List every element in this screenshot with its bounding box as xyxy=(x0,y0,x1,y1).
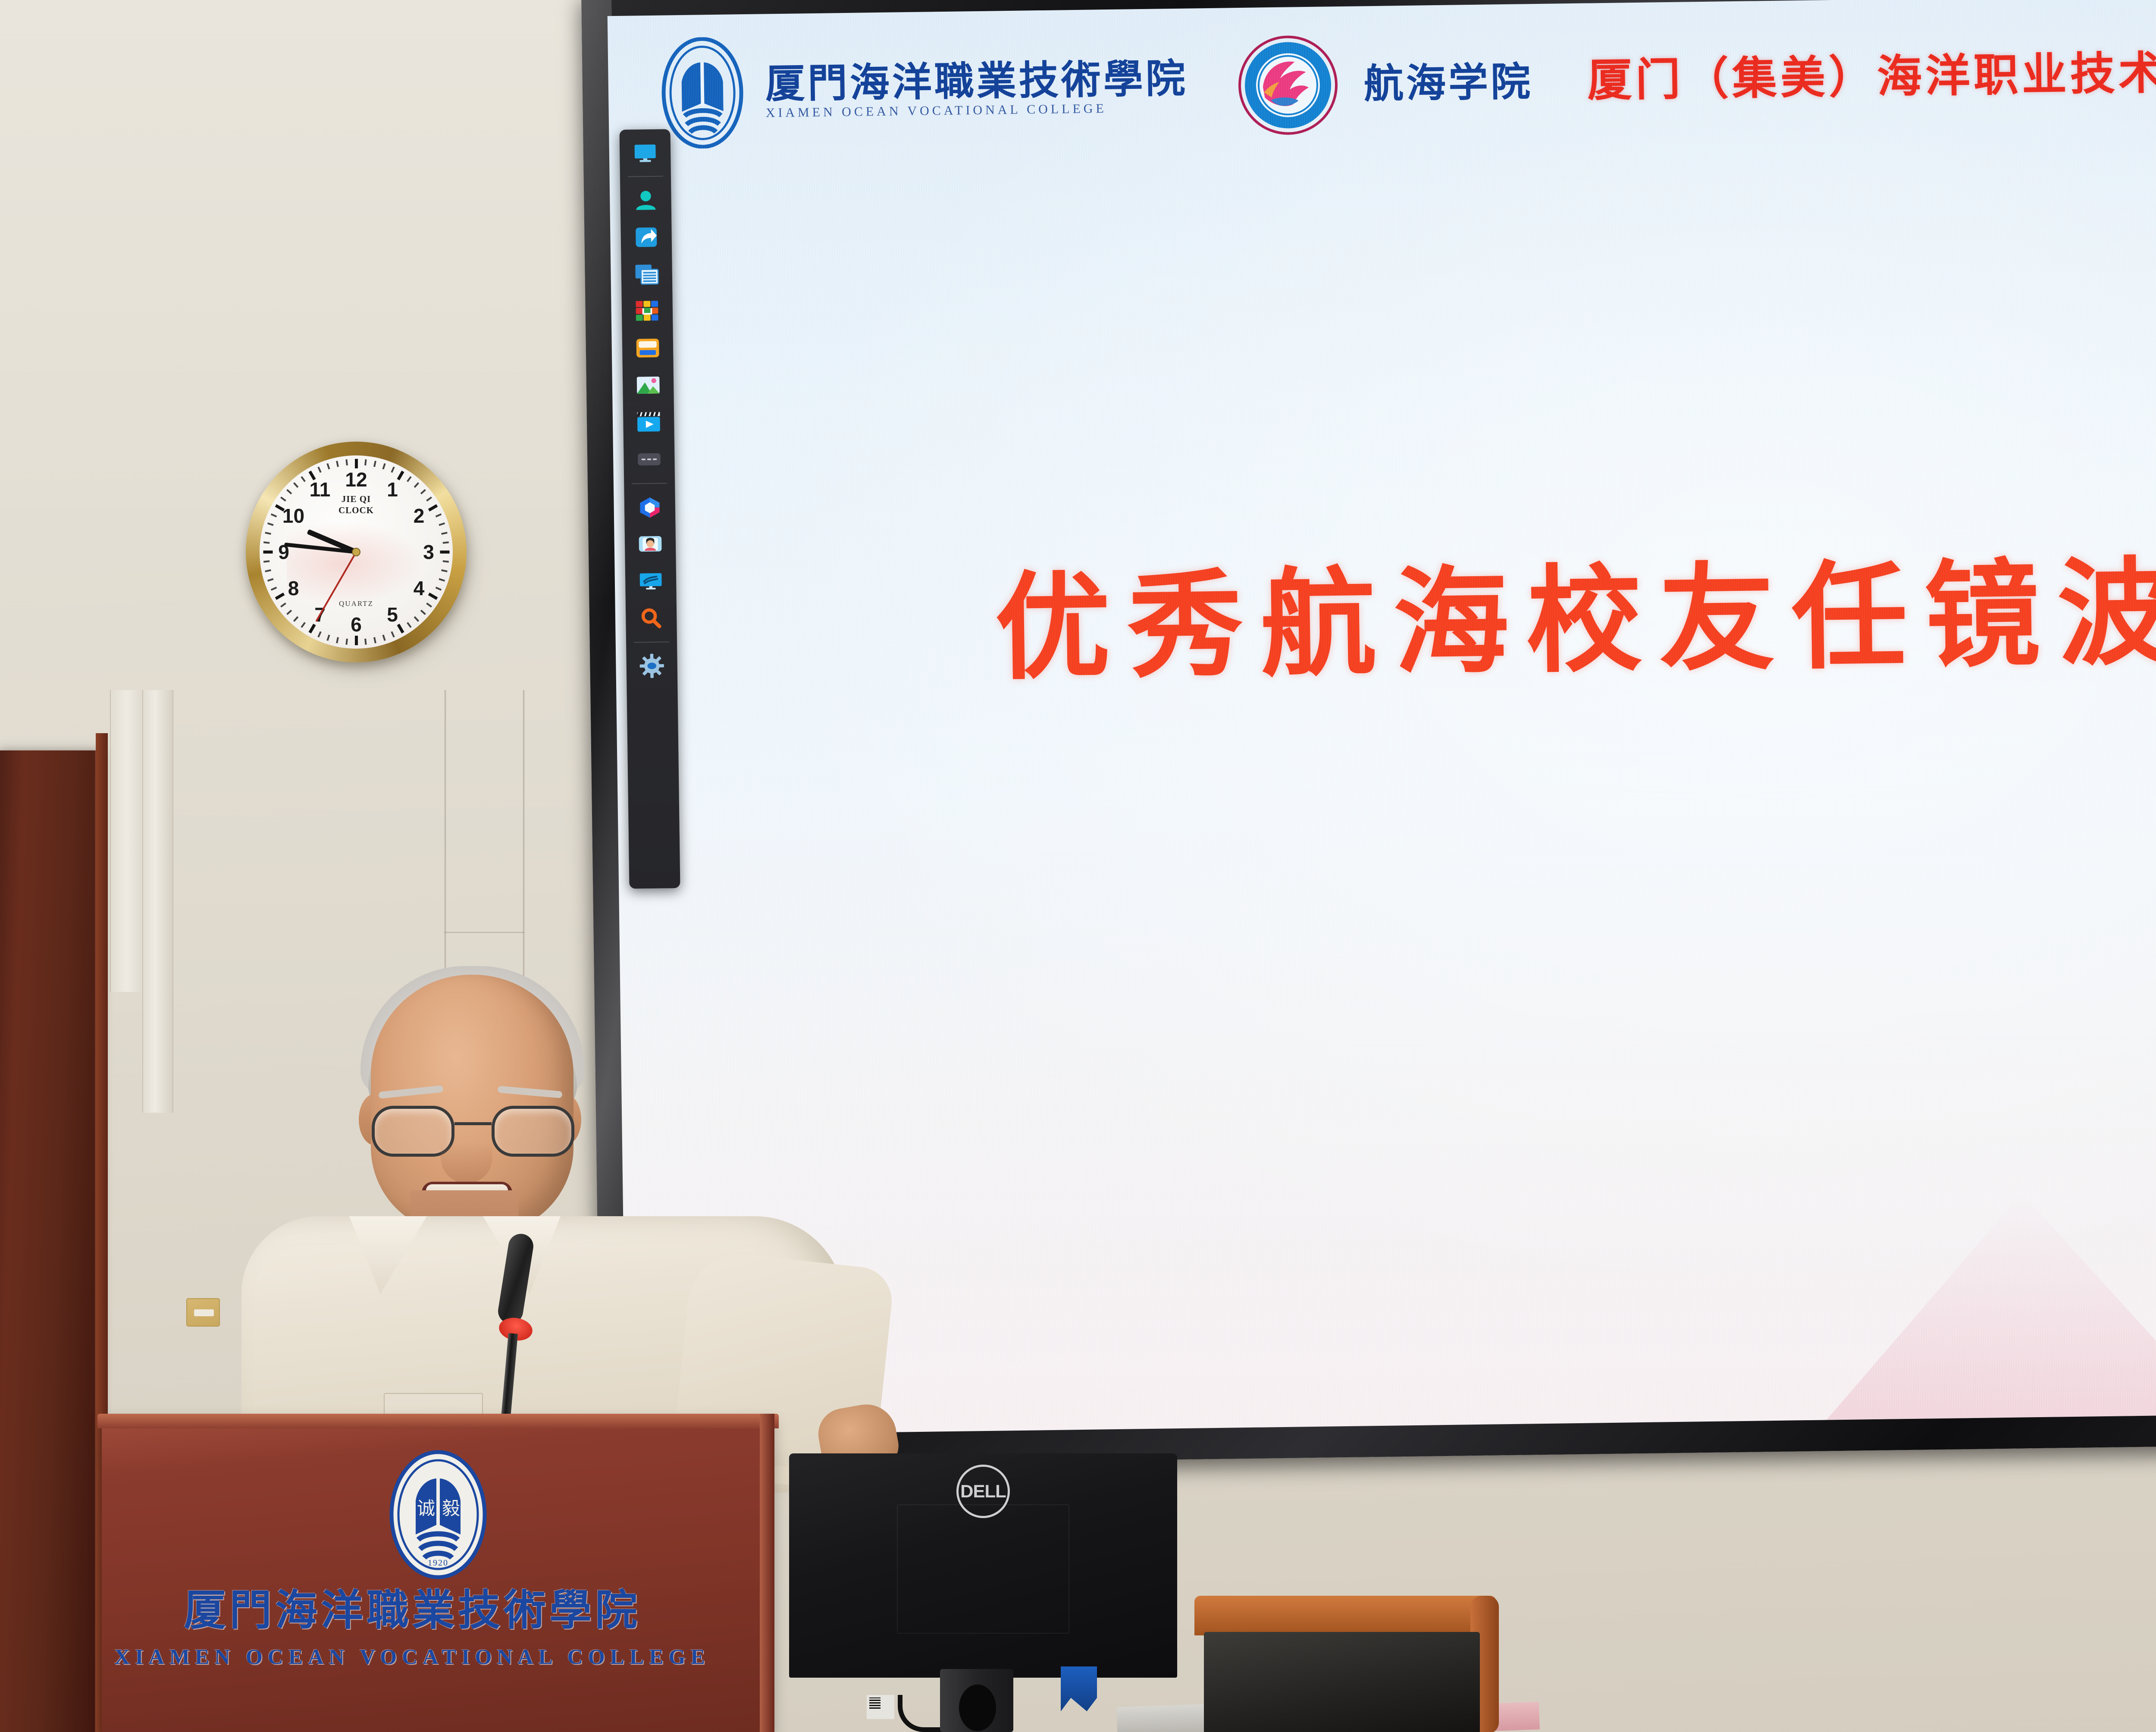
clock-tick xyxy=(355,636,358,645)
clock-brand-label: JIE QI CLOCK xyxy=(260,493,453,516)
dock-documents-icon[interactable] xyxy=(631,259,662,290)
clock-tick xyxy=(355,459,358,468)
clock-tick xyxy=(265,532,271,535)
dock-settings-gear-icon[interactable] xyxy=(636,650,667,682)
podium-college-name-cn: 厦門海洋職業技術學院 xyxy=(102,1590,723,1632)
clock-tick xyxy=(326,463,330,470)
dock-search-icon[interactable] xyxy=(636,603,667,634)
clock-tick xyxy=(443,560,449,562)
college-name-cn: 厦門海洋職業技術學院 xyxy=(765,59,1188,104)
display-dock-toolbar[interactable] xyxy=(619,129,680,888)
dock-browser-hexagon-icon[interactable] xyxy=(634,492,665,523)
wall-conduit-right xyxy=(142,690,173,1113)
clock-tick xyxy=(391,631,395,637)
dell-monitor[interactable]: DELL xyxy=(789,1453,1203,1732)
clock-brand-line1: JIE QI xyxy=(342,494,371,504)
college-seal-icon xyxy=(658,37,746,149)
clock-tick xyxy=(286,610,292,615)
clock-tick xyxy=(373,461,376,467)
clock-numeral-6: 6 xyxy=(343,615,369,634)
clock-tick xyxy=(364,639,367,645)
clock-second-hand xyxy=(315,552,357,622)
lectern-podium: 诚 毅 1920 厦門海洋職業技術學院 XIAMEN OCEAN VOCATIO… xyxy=(102,1423,774,1732)
dock-gallery-icon[interactable] xyxy=(633,370,664,402)
clock-tick xyxy=(441,532,448,535)
clock-movement-label: QUARTZ xyxy=(260,600,453,607)
slide-banner-red: 厦门（集美）海洋职业技术学院校友 xyxy=(1587,49,2156,104)
dock-video-player-icon[interactable] xyxy=(633,407,664,439)
slide-header: 厦門海洋職業技術學院 XIAMEN OCEAN VOCATIONAL COLLE… xyxy=(658,6,2156,156)
glasses-bridge xyxy=(454,1122,492,1125)
chair-backrest xyxy=(1204,1632,1480,1732)
monitor-blue-tape xyxy=(1061,1666,1097,1711)
clock-tick xyxy=(301,476,305,482)
clock-tick xyxy=(364,459,367,465)
clock-tick xyxy=(326,634,330,641)
lecture-hall-scene: 121234567891011 JIE QI CLOCK QUARTZ xyxy=(0,0,2156,1732)
clock-numeral-4: 4 xyxy=(406,578,432,598)
clock-tick xyxy=(407,476,411,482)
dock-separator xyxy=(628,176,663,177)
clock-tick xyxy=(345,639,348,645)
clock-tick xyxy=(317,631,321,637)
monitor-stand-neck xyxy=(940,1669,1013,1732)
wall-seam-horizontal xyxy=(444,932,524,933)
wall-clock: 121234567891011 JIE QI CLOCK QUARTZ xyxy=(242,439,475,674)
clock-tick xyxy=(293,616,298,622)
clock-tick xyxy=(382,463,386,470)
room-door[interactable] xyxy=(0,750,99,1732)
svg-text:毅: 毅 xyxy=(442,1499,460,1519)
clock-numeral-5: 5 xyxy=(379,605,405,624)
clock-tick xyxy=(407,622,411,628)
clock-face: 121234567891011 JIE QI CLOCK QUARTZ xyxy=(260,455,453,649)
clock-tick xyxy=(267,578,274,582)
clock-tick xyxy=(263,541,269,543)
mountain-silhouette-far xyxy=(1824,1190,2156,1420)
glasses-lens-right xyxy=(492,1106,574,1157)
dock-screen-cast-icon[interactable] xyxy=(635,566,667,597)
dock-separator xyxy=(634,641,669,643)
monitor-back-panel: DELL xyxy=(789,1453,1177,1678)
clock-tick xyxy=(443,541,449,543)
clock-tick xyxy=(420,610,426,615)
speaker-person xyxy=(241,957,906,1466)
wall-outlet xyxy=(186,1298,220,1327)
podium-college-name-en: XIAMEN OCEAN VOCATIONAL COLLEGE xyxy=(102,1646,723,1667)
podium-college-seal-icon: 诚 毅 1920 xyxy=(386,1450,490,1579)
clock-tick xyxy=(271,587,277,590)
clock-center-pin xyxy=(352,548,360,556)
office-chair[interactable] xyxy=(1194,1596,1522,1732)
clock-numeral-8: 8 xyxy=(281,578,307,598)
dock-share-arrow-icon[interactable] xyxy=(630,222,662,253)
clock-tick xyxy=(336,461,339,467)
dell-brand-text: DELL xyxy=(960,1482,1006,1500)
podium-right-edge xyxy=(760,1414,774,1732)
clock-tick xyxy=(267,522,274,526)
clock-numeral-3: 3 xyxy=(416,542,442,562)
dock-monitor-icon[interactable] xyxy=(630,137,661,169)
podium-top-edge xyxy=(97,1414,779,1428)
dell-logo-icon: DELL xyxy=(956,1465,1010,1518)
navigation-college-seal-icon xyxy=(1237,35,1338,136)
svg-text:1920: 1920 xyxy=(428,1558,448,1568)
clock-tick xyxy=(373,637,376,643)
wall-panel-upper-left xyxy=(0,0,612,509)
chair-wood-top-rail xyxy=(1194,1596,1496,1635)
clock-tick xyxy=(301,622,305,628)
monitor-vesa-plate xyxy=(897,1504,1069,1634)
microphone-head xyxy=(496,1232,535,1325)
monitor-service-label xyxy=(867,1695,894,1719)
dock-whiteboard-icon[interactable] xyxy=(632,333,664,364)
clock-tick xyxy=(382,634,386,641)
clock-tick xyxy=(414,616,419,622)
clock-tick xyxy=(441,569,448,572)
clock-tick xyxy=(391,467,395,473)
clock-brand-line2: CLOCK xyxy=(338,505,374,515)
clock-tick xyxy=(439,578,445,582)
clock-tick xyxy=(336,637,339,643)
clock-tick xyxy=(439,522,445,526)
clock-tick xyxy=(345,459,348,465)
clock-tick xyxy=(293,482,298,488)
dock-apps-grid-icon[interactable] xyxy=(632,296,663,327)
clock-tick xyxy=(317,467,321,473)
clock-tick xyxy=(414,482,419,488)
dock-more-dots-icon[interactable] xyxy=(633,444,665,476)
clock-numeral-12: 12 xyxy=(343,470,369,489)
college-name-block: 厦門海洋職業技術學院 XIAMEN OCEAN VOCATIONAL COLLE… xyxy=(765,59,1188,120)
svg-text:诚: 诚 xyxy=(417,1499,435,1519)
department-name-cn: 航海学院 xyxy=(1363,62,1533,104)
clock-tick xyxy=(436,587,442,590)
dock-avatar-frame-icon[interactable] xyxy=(635,529,666,560)
dock-separator xyxy=(632,483,667,484)
clock-tick xyxy=(263,560,269,562)
dock-user-icon[interactable] xyxy=(630,185,661,216)
clock-tick xyxy=(265,569,271,572)
slide-main-title: 优秀航海校友任镜波 xyxy=(994,556,2156,687)
